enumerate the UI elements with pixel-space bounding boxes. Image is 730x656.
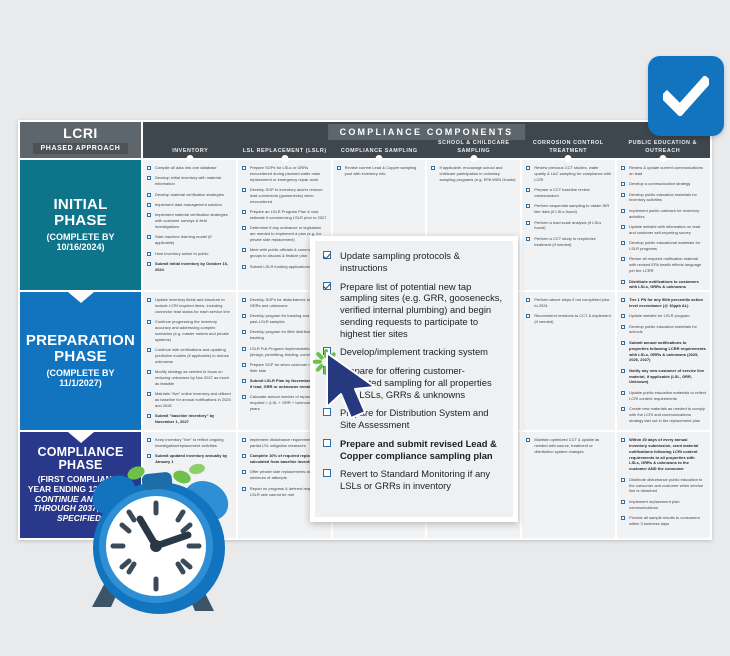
cell-preparation-cct: Perform above steps if not completed pri…: [522, 292, 617, 432]
checklist-item[interactable]: Update public education materials to ref…: [621, 390, 706, 402]
checklist-item-label: Implement replacement plan communication…: [629, 499, 679, 510]
checkbox-icon[interactable]: [242, 395, 246, 399]
checklist-item-label: Start machine learning model (if applica…: [155, 234, 212, 245]
checklist-item[interactable]: Submit initial inventory by October 16, …: [147, 261, 232, 273]
checklist-item[interactable]: Develop material verification strategies: [147, 192, 232, 198]
checkbox-icon[interactable]: [147, 193, 151, 197]
checklist-item-label: Keep inventory "live" to reflect ongoing…: [155, 437, 224, 448]
checklist-item-label: Implement material verification strategi…: [155, 212, 228, 229]
checklist-item[interactable]: Distribute disturbance public education …: [621, 477, 706, 495]
checklist-item-label: Update website for LSLR program: [629, 313, 689, 318]
checkbox-icon[interactable]: [621, 298, 625, 302]
checklist-item-label: Develop initial inventory with material …: [155, 175, 221, 186]
popup-checklist-item[interactable]: Prepare list of potential new tap sampli…: [323, 281, 503, 340]
checklist-item[interactable]: If applicable, encourage school and chil…: [431, 165, 516, 183]
popup-checklist-item-label: Update sampling protocols & instructions: [340, 250, 460, 273]
screenshot-stage: LCRI PHASED APPROACH INITIAL PHASE (COMP…: [0, 0, 730, 656]
column-label: COMPLIANCE SAMPLING: [341, 148, 418, 155]
checkbox-icon[interactable]: [431, 166, 435, 170]
checklist-item-label: Develop material verification strategies: [155, 192, 224, 197]
checkbox-icon[interactable]: [526, 221, 530, 225]
checkbox-icon[interactable]: [526, 314, 530, 318]
checkbox-icon[interactable]: [621, 209, 625, 213]
checkbox-icon[interactable]: [323, 408, 331, 416]
checklist-item-label: Submit initial inventory by October 16, …: [155, 261, 228, 272]
checkbox-icon[interactable]: [621, 182, 625, 186]
checklist-item[interactable]: Review previous CCT studies, water quali…: [526, 165, 611, 183]
checklist-item-label: Develop public education materials for i…: [629, 192, 697, 203]
checklist-item[interactable]: Perform a CCT study to reoptimize treatm…: [526, 236, 611, 248]
checkbox-icon[interactable]: [242, 166, 246, 170]
checkbox-icon[interactable]: [242, 330, 246, 334]
checklist-item[interactable]: Implement replacement plan communication…: [621, 499, 706, 511]
checkbox-icon[interactable]: [323, 469, 331, 477]
column-header-inventory: INVENTORY: [143, 122, 238, 158]
checklist-item[interactable]: Within 30 days of every annual inventory…: [621, 437, 706, 472]
checkbox-icon[interactable]: [242, 314, 246, 318]
checklist-item[interactable]: Implement material verification strategi…: [147, 212, 232, 230]
checklist-item[interactable]: Develop SOP to inventory and/or remove l…: [242, 187, 327, 205]
checkbox-icon[interactable]: [242, 298, 246, 302]
checklist-item-label: Meet with public officials & community g…: [250, 247, 317, 258]
checklist-item-label: Develop SOP to inventory and/or remove l…: [250, 187, 323, 204]
checklist-item-label: Submit annual notifications to propertie…: [629, 340, 706, 363]
checklist-item[interactable]: Perform above steps if not completed pri…: [526, 297, 611, 309]
column-dot-icon: [376, 155, 383, 162]
column-header-bar: COMPLIANCE COMPONENTS INVENTORY LSL REPL…: [143, 120, 712, 160]
checklist-item[interactable]: Tier 1 PN for any 90th percentile action…: [621, 297, 706, 309]
popup-checklist-item-label: Revert to Standard Monitoring if any LSL…: [340, 468, 490, 491]
cell-initial-pubed: Review & update current communications o…: [617, 160, 712, 292]
checkbox-icon[interactable]: [621, 241, 625, 245]
checklist-item-label: Compile all data into one database: [155, 165, 217, 170]
column-label: CORROSION CONTROL TREATMENT: [521, 140, 616, 155]
checklist-item[interactable]: Prepare a CCT baseline review memorandum: [526, 187, 611, 199]
checklist-item-label: Perform sequential sampling to obtain SI…: [534, 203, 609, 214]
checklist-item-label: Revise all required notification materia…: [629, 256, 701, 273]
checklist-item-label: Submit "baseline inventory" by November …: [155, 413, 214, 424]
cell-preparation-inventory: Update inventory fields and structure to…: [143, 292, 238, 432]
column-dot-icon: [565, 155, 572, 162]
checklist-item-label: Submit LSLR funding applications: [250, 264, 310, 269]
checklist-item-label: Implement public outreach for inventory …: [629, 208, 699, 219]
checklist-item-label: Tier 1 PN for any 90th percentile action…: [629, 297, 703, 308]
checklist-item-label: Implement data management solution: [155, 202, 222, 207]
checklist-item[interactable]: Implement public outreach for inventory …: [621, 208, 706, 220]
checklist-item[interactable]: Develop public education materials for s…: [621, 324, 706, 336]
checkbox-icon[interactable]: [242, 379, 246, 383]
checklist-item[interactable]: Start machine learning model (if applica…: [147, 234, 232, 246]
checkbox-icon[interactable]: [147, 392, 151, 396]
checklist-item-label: Recommend revisions to CCT & implement (…: [534, 313, 610, 324]
checklist-item-label: Within 30 days of every annual inventory…: [629, 437, 698, 471]
checklist-item[interactable]: Submit annual notifications to propertie…: [621, 340, 706, 363]
checklist-item-label: Distribute notifications to customers wi…: [629, 279, 699, 290]
checkbox-icon[interactable]: [147, 203, 151, 207]
checkbox-icon[interactable]: [242, 188, 246, 192]
checklist-item[interactable]: Perform sequential sampling to obtain SI…: [526, 203, 611, 215]
column-label: PUBLIC EDUCATION & OUTREACH: [616, 140, 711, 155]
checkbox-icon[interactable]: [621, 257, 625, 261]
checkbox-icon[interactable]: [621, 478, 625, 482]
checklist-item[interactable]: Continue progressing the inventory accur…: [147, 319, 232, 342]
checkbox-icon[interactable]: [621, 193, 625, 197]
checkbox-icon[interactable]: [323, 439, 331, 447]
checklist-item-label: Continue with verifications and updating…: [155, 347, 229, 364]
checklist-item-label: Update inventory fields and structure to…: [155, 297, 230, 314]
checkbox-icon[interactable]: [526, 298, 530, 302]
checklist-item[interactable]: Update inventory fields and structure to…: [147, 297, 232, 315]
checkbox-icon[interactable]: [242, 438, 246, 442]
checkbox-icon[interactable]: [147, 370, 151, 374]
checkbox-icon[interactable]: [242, 210, 246, 214]
checklist-item[interactable]: Maintain "live" online inventory and uti…: [147, 391, 232, 409]
column-header-lslr: LSL REPLACEMENT (LSLR): [238, 122, 333, 158]
checkbox-icon[interactable]: [621, 369, 625, 373]
popup-checklist-item-label: Prepare and submit revised Lead & Copper…: [340, 438, 497, 461]
checklist-item-label: Provide all sample results to consumers …: [629, 515, 700, 526]
checkbox-icon[interactable]: [147, 262, 151, 266]
checklist-item-label: Maintain optimized CCT & update as neede…: [534, 437, 599, 454]
cell-compliance-pubed: Within 30 days of every annual inventory…: [617, 432, 712, 540]
phase-preparation-name: PREPARATION PHASE: [26, 333, 135, 365]
checkbox-icon[interactable]: [147, 235, 151, 239]
checkbox-icon[interactable]: [621, 341, 625, 345]
checklist-item-label: Review & update current communications o…: [629, 165, 703, 176]
phase-divider-notch: [68, 292, 94, 303]
popup-checklist-item[interactable]: Update sampling protocols & instructions: [323, 250, 503, 274]
compliance-sampling-detail-popup[interactable]: Update sampling protocols & instructions…: [310, 236, 518, 522]
checkbox-icon[interactable]: [147, 166, 151, 170]
checklist-item-label: Perform a CCT study to reoptimize treatm…: [534, 236, 595, 247]
column-label: INVENTORY: [172, 148, 208, 155]
check-icon: [663, 76, 709, 116]
column-dot-icon: [187, 155, 194, 162]
checkbox-icon[interactable]: [242, 265, 246, 269]
checklist-item[interactable]: Distribute notifications to customers wi…: [621, 279, 706, 291]
checklist-item-label: Develop program for filter distribution …: [250, 329, 320, 340]
checklist-item-label: Update public education materials to ref…: [629, 390, 706, 401]
checklist-item-label: Update website with information on lead …: [629, 224, 700, 235]
checklist-item-label: Perform above steps if not completed pri…: [534, 297, 609, 308]
phase-preparation-date: (COMPLETE BY 11/1/2027): [26, 368, 135, 389]
column-dot-icon: [659, 155, 666, 162]
checklist-item-label: If applicable, encourage school and chil…: [439, 165, 515, 182]
checkbox-icon[interactable]: [323, 347, 331, 355]
checklist-item[interactable]: Update website with information on lead …: [621, 224, 706, 236]
checkbox-icon[interactable]: [242, 347, 246, 351]
checklist-item[interactable]: Revise all required notification materia…: [621, 256, 706, 274]
checklist-item-label: Modify strategy as needed to focus on re…: [155, 369, 229, 386]
checklist-item-label: Host inventory online to public: [155, 251, 208, 256]
checklist-item-label: Notify any new customer of service line …: [629, 368, 704, 385]
column-dot-icon: [281, 155, 288, 162]
lcri-title: LCRI: [63, 126, 98, 140]
checkbox-icon[interactable]: [621, 500, 625, 504]
cell-initial-cct: Review previous CCT studies, water quali…: [522, 160, 617, 292]
checklist-item-label: Create new materials as needed to comply…: [629, 406, 705, 423]
checklist-item[interactable]: Review & update current communications o…: [621, 165, 706, 177]
checklist-item[interactable]: Keep inventory "live" to reflect ongoing…: [147, 437, 232, 449]
checklist-item[interactable]: Submit "baseline inventory" by November …: [147, 413, 232, 425]
checkbox-icon[interactable]: [147, 348, 151, 352]
checkbox-icon[interactable]: [621, 391, 625, 395]
column-label: SCHOOL & CHILDCARE SAMPLING: [427, 140, 522, 155]
column-header-cct: CORROSION CONTROL TREATMENT: [521, 122, 616, 158]
checkbox-icon[interactable]: [242, 363, 246, 367]
phase-initial-name: INITIAL PHASE: [26, 197, 135, 229]
checkbox-icon[interactable]: [526, 438, 530, 442]
popup-checklist-item-label: Prepare list of potential new tap sampli…: [340, 281, 502, 339]
column-label: LSL REPLACEMENT (LSLR): [243, 148, 327, 155]
column-header-compliance-sampling: COMPLIANCE SAMPLING: [332, 122, 427, 158]
checkbox-icon[interactable]: [621, 166, 625, 170]
cell-initial-inventory: Compile all data into one databaseDevelo…: [143, 160, 238, 292]
check-badge: [648, 56, 724, 136]
checkbox-checked-icon[interactable]: [323, 282, 331, 290]
checkbox-icon[interactable]: [621, 325, 625, 329]
checklist-item[interactable]: Review current Lead & Copper sampling po…: [337, 165, 422, 177]
checklist-item-label: Continue progressing the inventory accur…: [155, 319, 229, 342]
checkbox-icon[interactable]: [621, 280, 625, 284]
checklist-item-label: Perform a lead scale analysis (if LSLs f…: [534, 220, 601, 231]
checkbox-icon[interactable]: [526, 166, 530, 170]
popup-checklist: Update sampling protocols & instructions…: [323, 250, 503, 492]
checklist-item-label: Develop public education materials for s…: [629, 324, 697, 335]
checklist-item[interactable]: Develop public education materials for i…: [621, 192, 706, 204]
checklist-item-label: Prepare a CCT baseline review memorandum: [534, 187, 589, 198]
checklist-item-label: Review previous CCT studies, water quali…: [534, 165, 611, 182]
popup-checklist-item-label: Prepare for Distribution System and Site…: [340, 407, 489, 430]
checkbox-icon[interactable]: [242, 226, 246, 230]
lcri-subtitle: PHASED APPROACH: [33, 143, 129, 154]
checkbox-icon[interactable]: [147, 438, 151, 442]
lcri-logo-block: LCRI PHASED APPROACH: [18, 120, 143, 160]
checkbox-icon[interactable]: [147, 298, 151, 302]
checklist-item-label: Prepare SOPs for LSLs or GRRs encountere…: [250, 165, 320, 182]
checklist-item[interactable]: Modify strategy as needed to focus on re…: [147, 369, 232, 387]
checklist-item[interactable]: Prepare an LSLR Program Plan & cost esti…: [242, 209, 327, 221]
checklist-item[interactable]: Update website for LSLR program: [621, 313, 706, 319]
popup-checklist-item-label: Prepare for offering customer-requested …: [340, 365, 492, 400]
checklist-item-label: Distribute disturbance public education …: [629, 477, 703, 494]
checklist-item-label: Offer private side replacements at a min…: [250, 469, 313, 480]
checkbox-icon[interactable]: [147, 176, 151, 180]
checkbox-icon[interactable]: [147, 213, 151, 217]
checklist-item[interactable]: Recommend revisions to CCT & implement (…: [526, 313, 611, 325]
checklist-item-label: Maintain "live" online inventory and uti…: [155, 391, 231, 408]
checklist-item-label: Review current Lead & Copper sampling po…: [345, 165, 417, 176]
checklist-item[interactable]: Continue with verifications and updating…: [147, 347, 232, 365]
checkbox-icon[interactable]: [242, 454, 246, 458]
checklist-item[interactable]: Maintain optimized CCT & update as neede…: [526, 437, 611, 455]
checklist-item[interactable]: Develop initial inventory with material …: [147, 175, 232, 187]
popup-checklist-item[interactable]: Prepare and submit revised Lead & Copper…: [323, 438, 503, 462]
checklist-item-label: Develop a communication strategy: [629, 181, 690, 186]
popup-checklist-item-label: Develop/implement tracking system: [340, 346, 488, 357]
column-header-school-childcare: SCHOOL & CHILDCARE SAMPLING: [427, 122, 522, 158]
checkbox-icon[interactable]: [526, 237, 530, 241]
checklist-item-label: Develop public educational materials for…: [629, 240, 700, 251]
cell-compliance-cct: Maintain optimized CCT & update as neede…: [522, 432, 617, 540]
cell-preparation-pubed: Tier 1 PN for any 90th percentile action…: [617, 292, 712, 432]
checklist-item[interactable]: Implement data management solution: [147, 202, 232, 208]
checkbox-icon[interactable]: [621, 314, 625, 318]
phase-initial: INITIAL PHASE (COMPLETE BY 10/16/2024): [18, 160, 143, 292]
checklist-item[interactable]: Host inventory online to public: [147, 251, 232, 257]
checkbox-icon[interactable]: [621, 407, 625, 411]
checkbox-icon[interactable]: [621, 516, 625, 520]
popup-checklist-item[interactable]: Revert to Standard Monitoring if any LSL…: [323, 468, 503, 492]
checkbox-icon[interactable]: [147, 320, 151, 324]
popup-checklist-item[interactable]: Develop/implement tracking system: [323, 346, 503, 358]
checklist-item-label: Prepare an LSLR Program Plan & cost esti…: [250, 209, 327, 220]
alarm-clock-icon: [78, 455, 240, 620]
phase-preparation: PREPARATION PHASE (COMPLETE BY 11/1/2027…: [18, 292, 143, 432]
popup-checklist-item[interactable]: Prepare for offering customer-requested …: [323, 365, 503, 400]
checklist-item[interactable]: Develop a communication strategy: [621, 181, 706, 187]
checklist-item[interactable]: Prepare SOPs for LSLs or GRRs encountere…: [242, 165, 327, 183]
checkbox-icon[interactable]: [526, 188, 530, 192]
checklist-item[interactable]: Provide all sample results to consumers …: [621, 515, 706, 527]
checklist-item[interactable]: Perform a lead scale analysis (if LSLs f…: [526, 220, 611, 232]
checklist-item[interactable]: Notify any new customer of service line …: [621, 368, 706, 386]
phase-divider-notch: [68, 432, 94, 443]
checkbox-icon[interactable]: [526, 204, 530, 208]
checkbox-icon[interactable]: [242, 487, 246, 491]
checkbox-icon[interactable]: [242, 470, 246, 474]
checkbox-checked-icon[interactable]: [323, 251, 331, 259]
checklist-item[interactable]: Develop public educational materials for…: [621, 240, 706, 252]
checkbox-icon[interactable]: [147, 414, 151, 418]
checkbox-icon[interactable]: [323, 366, 331, 374]
checklist-item[interactable]: Create new materials as needed to comply…: [621, 406, 706, 424]
checklist-item[interactable]: Compile all data into one database: [147, 165, 232, 171]
checkbox-icon[interactable]: [621, 438, 625, 442]
column-dot-icon: [470, 155, 477, 162]
checkbox-icon[interactable]: [337, 166, 341, 170]
phase-initial-date: (COMPLETE BY 10/16/2024): [26, 232, 135, 253]
checkbox-icon[interactable]: [621, 225, 625, 229]
checkbox-icon[interactable]: [147, 252, 151, 256]
checkbox-icon[interactable]: [242, 248, 246, 252]
popup-checklist-item[interactable]: Prepare for Distribution System and Site…: [323, 407, 503, 431]
